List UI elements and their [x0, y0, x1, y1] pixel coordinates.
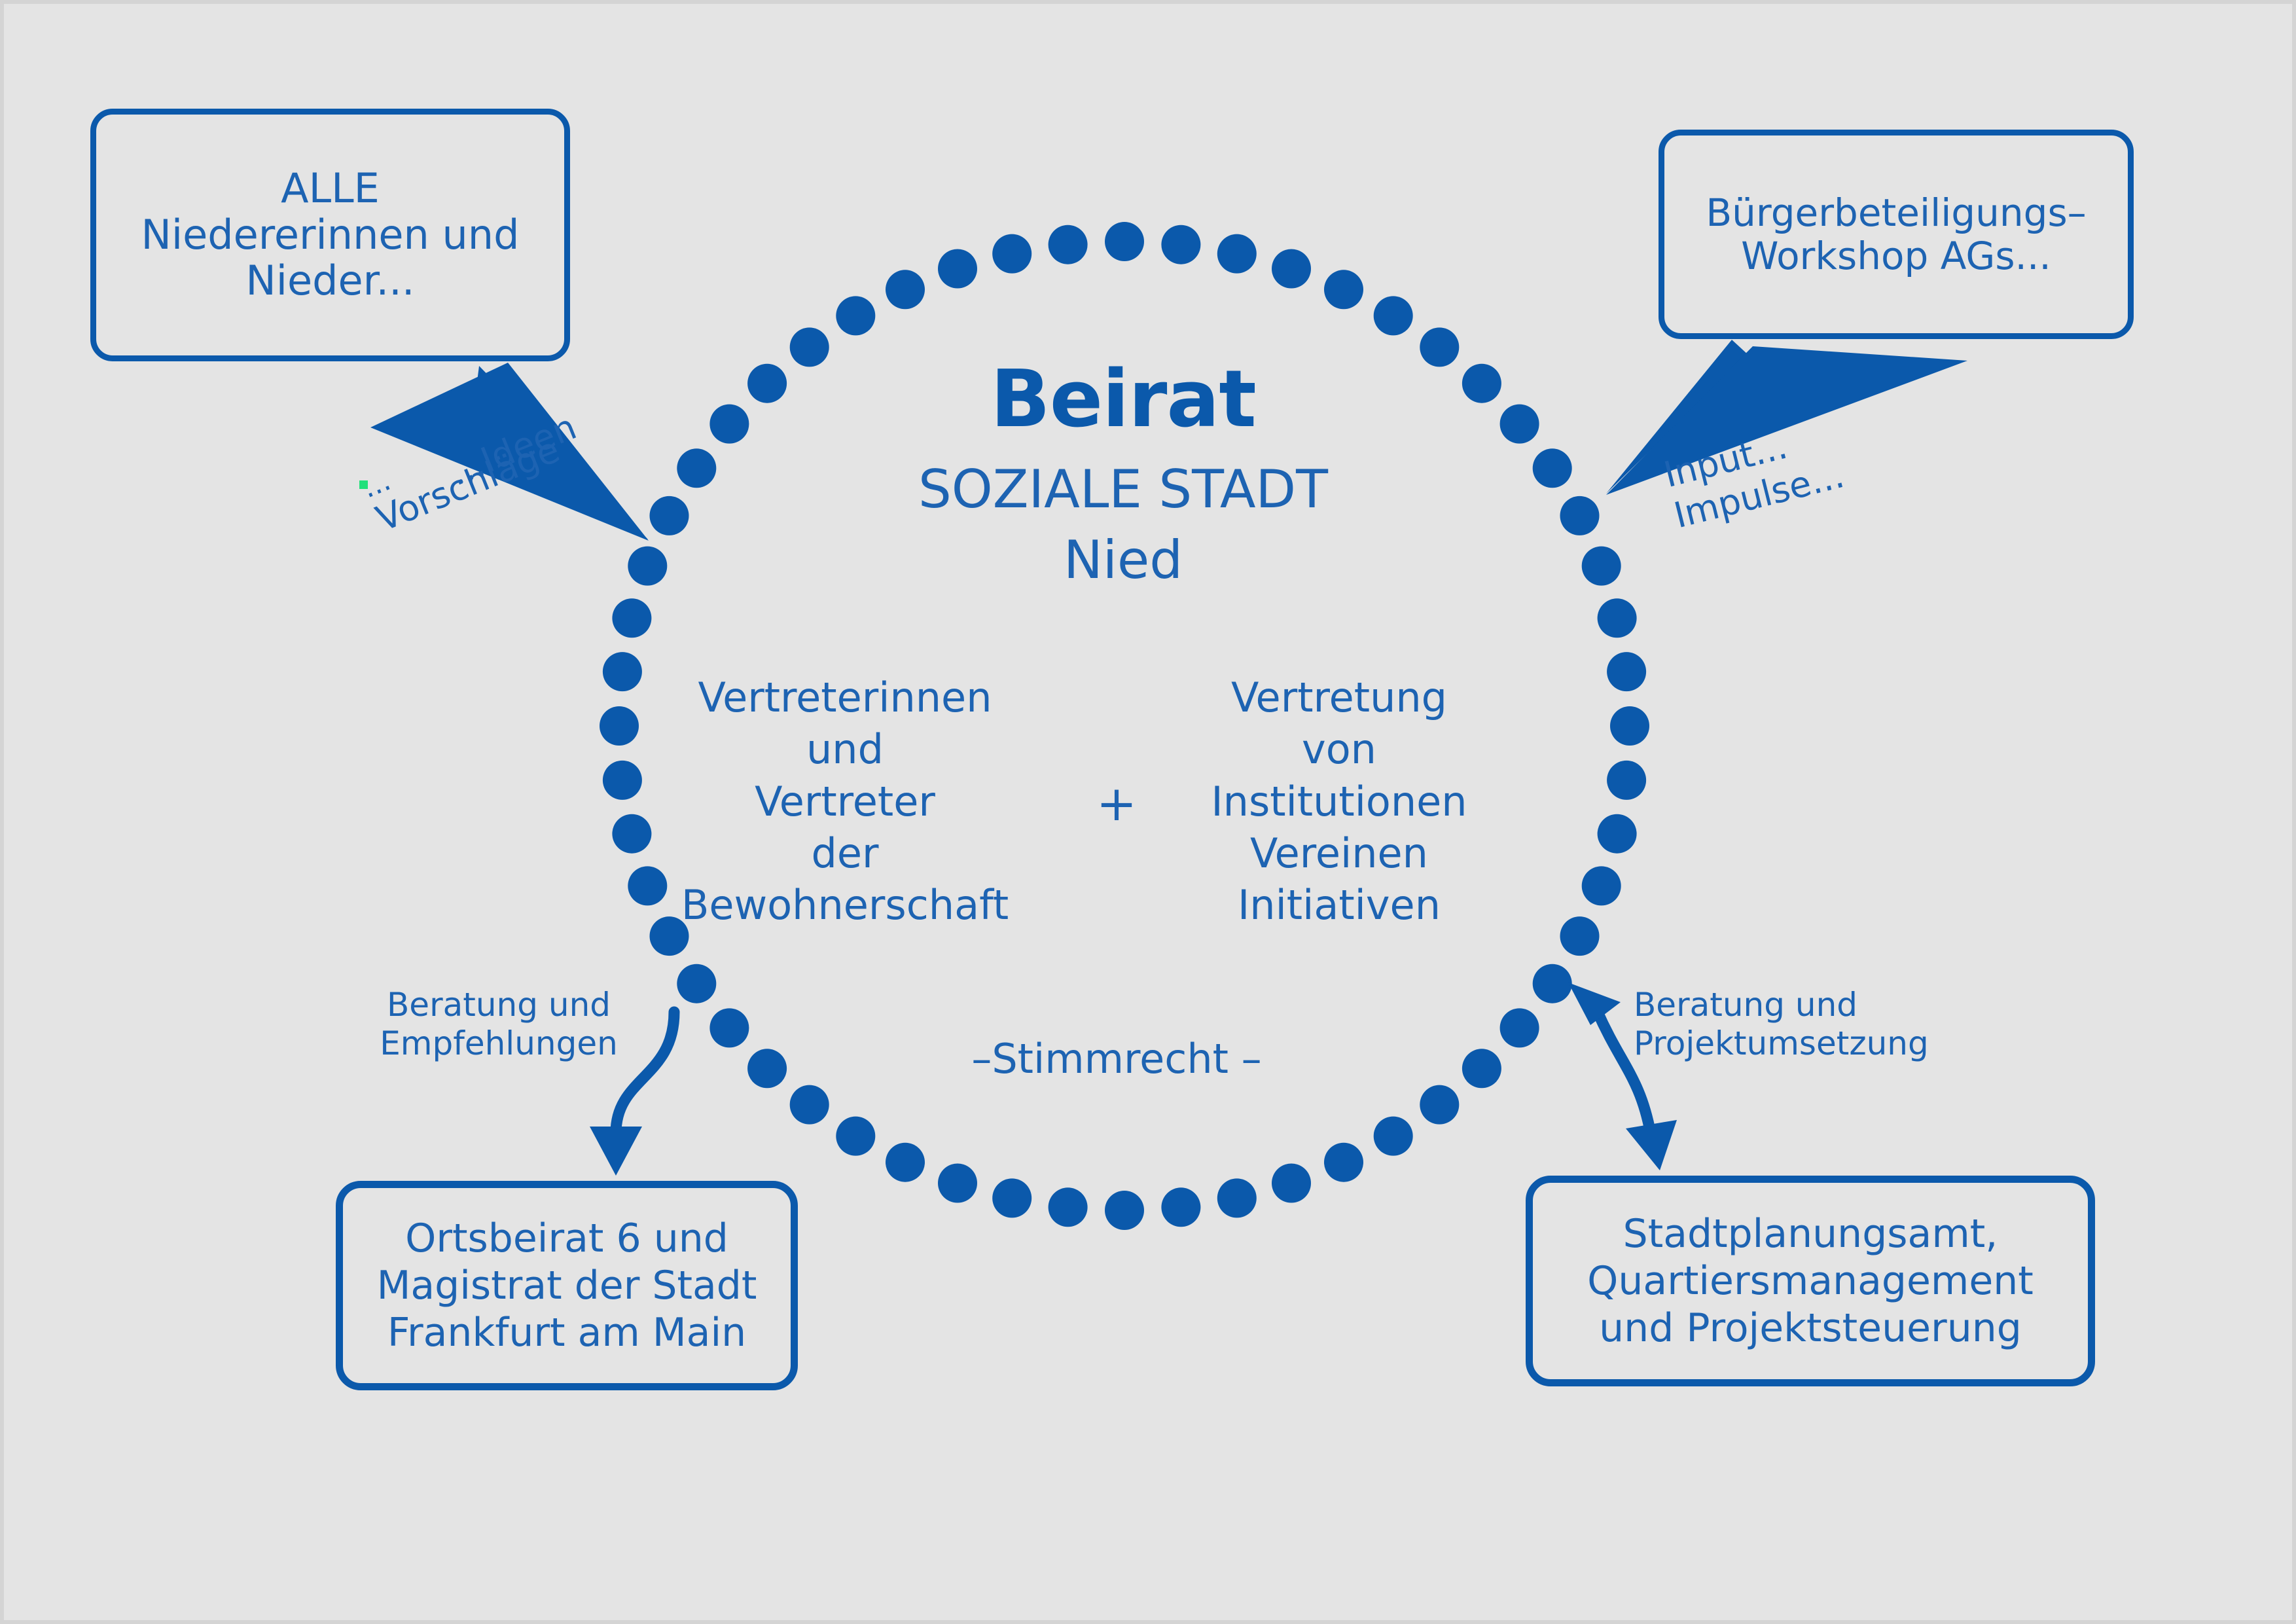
ring-dot: [1610, 706, 1649, 746]
ring-dot: [709, 405, 749, 444]
ring-dot: [938, 1164, 977, 1203]
box-ortsbeirat-line2: Magistrat der Stadt: [377, 1263, 757, 1308]
ring-dot: [677, 964, 716, 1003]
ring-dot: [1105, 1191, 1144, 1230]
ring-dot: [1533, 964, 1572, 1003]
ring-dot: [612, 814, 651, 854]
members-institutions-column: Vertretung von Institutionen Vereinen In…: [1175, 672, 1503, 931]
bubble-alle-line2: Niedererinnen und: [108, 212, 552, 259]
ring-dot: [1217, 234, 1257, 274]
arrow-left-head: [590, 1127, 642, 1176]
ring-dot: [1217, 1178, 1257, 1218]
voting-rights-note: –Stimmrecht –: [868, 1035, 1365, 1083]
annotation-beratung-projektumsetzung: Beratung und Projektumsetzung: [1634, 986, 1948, 1063]
ring-dot: [603, 761, 642, 800]
ring-dot: [886, 270, 925, 309]
ring-dot: [1374, 1117, 1413, 1156]
box-ortsbeirat-line1: Ortsbeirat 6 und: [405, 1216, 728, 1261]
arrow-right-head-down: [1626, 1120, 1677, 1170]
annotation-beratung-empfehlungen: Beratung und Empfehlungen: [368, 986, 630, 1063]
page-title: Beirat: [789, 361, 1457, 439]
center-subtitle-line1: SOZIALE STADT: [789, 462, 1457, 517]
ring-dot: [1607, 761, 1646, 800]
diagram-canvas: Beirat SOZIALE STADT Nied Vertreterinnen…: [4, 4, 2292, 1620]
ring-dot: [1161, 225, 1200, 264]
ring-dot: [790, 1085, 829, 1125]
ring-dot: [1560, 496, 1600, 535]
box-ortsbeirat-magistrat[interactable]: Ortsbeirat 6 und Magistrat der Stadt Fra…: [336, 1181, 798, 1390]
bubble-workshop-line2: Workshop: [1741, 234, 1928, 278]
box-ortsbeirat-line3: Frankfurt am Main: [387, 1310, 746, 1356]
ring-dot: [612, 598, 651, 638]
ring-dot: [600, 706, 639, 746]
annotation-input-impulse: Input... Impulse...: [1660, 414, 1848, 537]
plus-icon: +: [1077, 780, 1156, 828]
ring-dot: [1374, 296, 1413, 335]
center-subtitle-line2: Nied: [789, 533, 1457, 588]
ring-dot: [1598, 814, 1637, 854]
bubble-alle-line1: ALLE: [108, 166, 552, 212]
ring-dot: [1324, 1143, 1363, 1182]
ring-dot: [836, 296, 875, 335]
ring-dot: [677, 448, 716, 488]
ring-dot: [1607, 652, 1646, 691]
ring-dot: [1324, 270, 1363, 309]
ring-dot: [1533, 448, 1572, 488]
arrow-right-head-up: [1568, 983, 1621, 1025]
ring-dot: [1560, 916, 1600, 956]
ring-dot: [1582, 866, 1621, 905]
ring-dot: [992, 1178, 1031, 1218]
ring-dot: [628, 547, 667, 586]
bubble-workshop-line3: AGs...: [1941, 234, 2051, 278]
box-stadtplanungsamt[interactable]: Stadtplanungsamt, Quartiersmanagement un…: [1526, 1176, 2095, 1386]
bubble-workshop-line1: Bürgerbeteiligungs–: [1706, 190, 2086, 235]
ring-dot: [747, 1049, 787, 1088]
ring-dot: [1462, 1049, 1501, 1088]
ring-dot: [1582, 547, 1621, 586]
ring-dot: [886, 1143, 925, 1182]
speech-bubble-participation[interactable]: Bürgerbeteiligungs– Workshop AGs...: [1659, 130, 2134, 339]
ring-dot: [650, 496, 689, 535]
members-residents-column: Vertreterinnen und Vertreter der Bewohne…: [662, 672, 1028, 931]
ring-dot: [1500, 1008, 1539, 1047]
box-stadtplanung-line3: und Projektsteuerung: [1599, 1305, 2022, 1351]
ring-dot: [1049, 1187, 1088, 1227]
ring-dot: [1420, 1085, 1459, 1125]
speech-bubble-residents[interactable]: ALLE Niedererinnen und Nieder...: [90, 109, 570, 361]
ring-dot: [1462, 364, 1501, 403]
ring-dot: [1105, 222, 1144, 261]
ring-dot: [836, 1117, 875, 1156]
ring-dot: [938, 249, 977, 289]
ring-dot: [1598, 598, 1637, 638]
ring-dot: [747, 364, 787, 403]
ring-dot: [1049, 225, 1088, 264]
ring-dot: [709, 1008, 749, 1047]
ring-dot: [992, 234, 1031, 274]
ring-dot: [1272, 249, 1311, 289]
box-stadtplanung-line2: Quartiersmanagement: [1587, 1258, 2034, 1304]
box-stadtplanung-line1: Stadtplanungsamt,: [1623, 1211, 1998, 1257]
ring-dot: [603, 652, 642, 691]
ring-dot: [1161, 1187, 1200, 1227]
ring-dot: [1272, 1164, 1311, 1203]
bubble-alle-line3: Nieder...: [108, 258, 552, 304]
ring-dot: [1500, 405, 1539, 444]
